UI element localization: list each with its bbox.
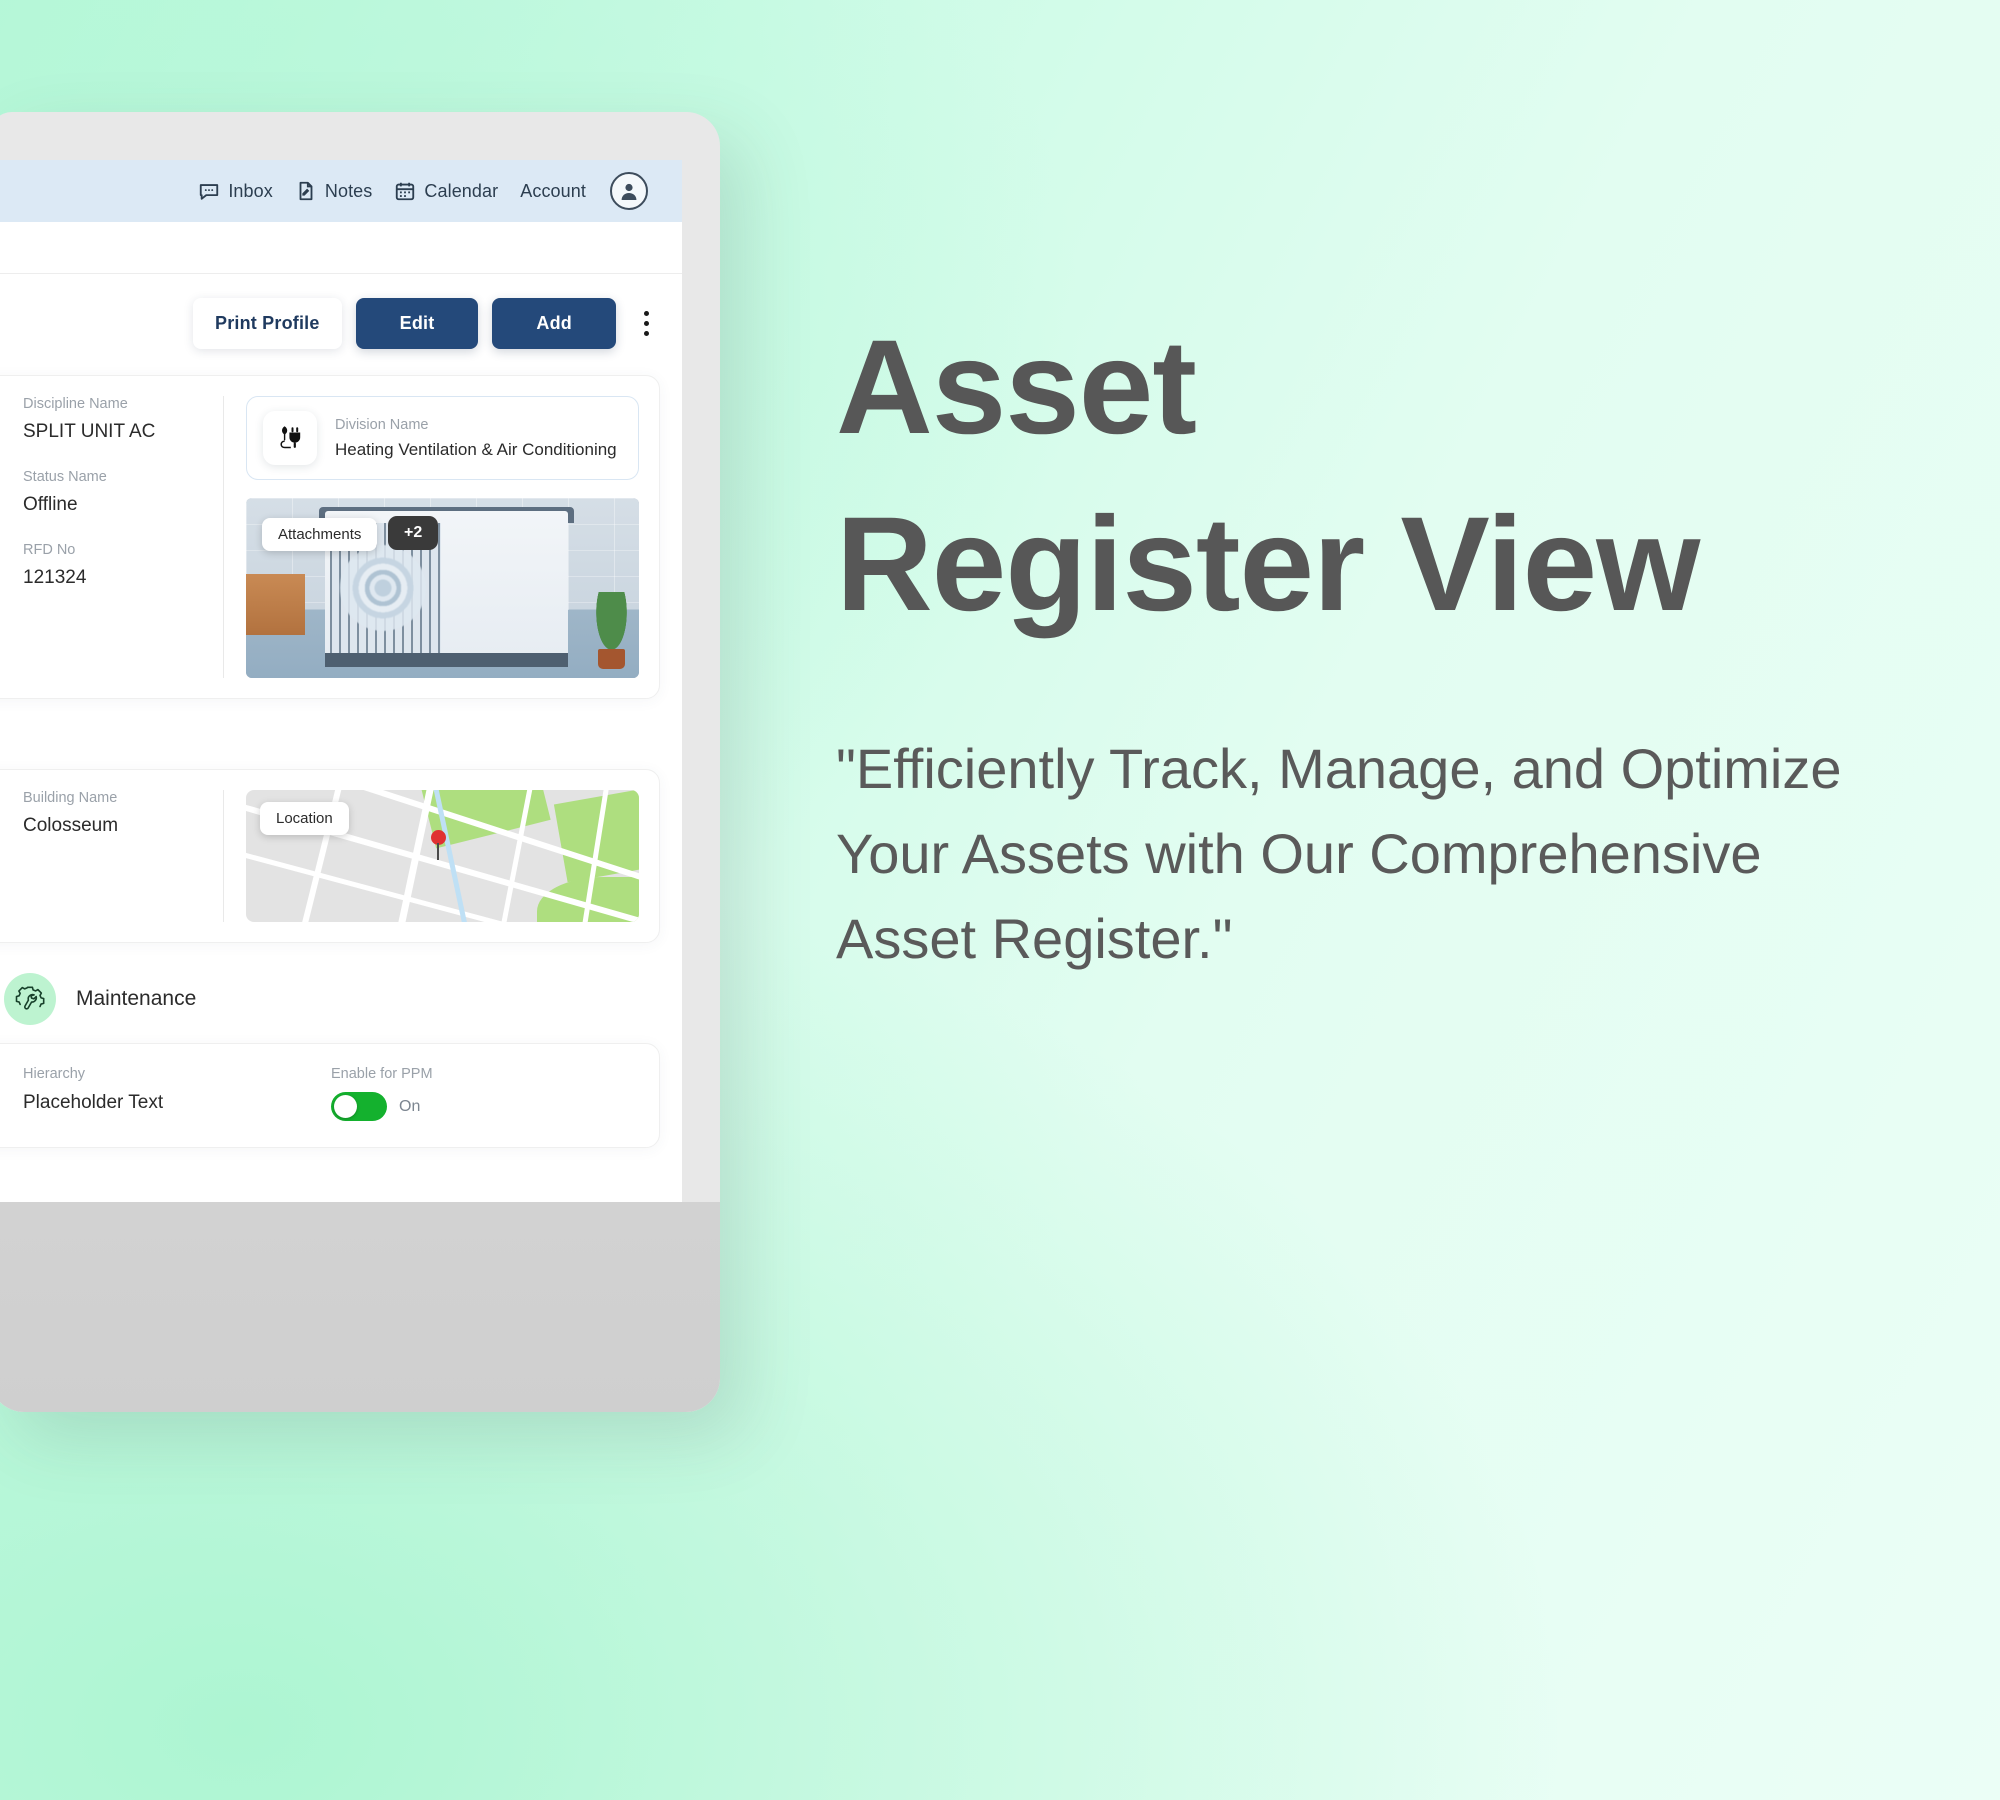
account-icon	[617, 179, 641, 203]
nav-item-calendar[interactable]: Calendar	[394, 180, 498, 202]
device-frame: Inbox Notes	[0, 112, 720, 1412]
headline-line-1: Asset	[836, 300, 1956, 477]
toolbar-area: Print Profile Edit Add	[0, 222, 682, 375]
hero-subcopy: "Efficiently Track, Manage, and Optimize…	[836, 726, 1866, 981]
photo-door	[246, 574, 305, 635]
headline-line-2: Register View	[836, 477, 1956, 654]
building-field-list: Building Name Colosseum	[23, 790, 223, 922]
app-screen: Inbox Notes	[0, 160, 682, 1202]
print-profile-button[interactable]: Print Profile	[193, 298, 342, 349]
more-options-icon[interactable]	[632, 304, 660, 344]
chat-bubble-icon	[198, 180, 220, 202]
field-label: Discipline Name	[23, 396, 207, 412]
ppm-label: Enable for PPM	[331, 1066, 639, 1082]
field-value: 121324	[23, 567, 207, 589]
nav-item-account[interactable]: Account	[520, 181, 586, 202]
edit-button[interactable]: Edit	[356, 298, 479, 349]
top-navigation-bar: Inbox Notes	[0, 160, 682, 222]
hero-copy: Asset Register View "Efficiently Track, …	[836, 300, 1956, 981]
building-card-right: Location	[223, 790, 639, 922]
asset-details-card: Discipline Name SPLIT UNIT AC Status Nam…	[0, 375, 660, 699]
toolbar-divider	[0, 222, 682, 274]
action-toolbar: Print Profile Edit Add	[0, 274, 682, 375]
calendar-icon	[394, 180, 416, 202]
building-details-card: Building Name Colosseum	[0, 769, 660, 943]
hierarchy-value: Placeholder Text	[23, 1092, 331, 1114]
field-label: Status Name	[23, 469, 207, 485]
attachments-chip[interactable]: Attachments	[262, 518, 377, 551]
status-badge: Offline	[23, 494, 207, 516]
field-status-name: Status Name Offline	[23, 469, 207, 516]
device-base	[0, 1202, 720, 1412]
division-value: Heating Ventilation & Air Conditioning	[335, 440, 617, 460]
toggle-knob	[334, 1095, 357, 1118]
nav-item-inbox-label: Inbox	[228, 181, 273, 202]
hierarchy-label: Hierarchy	[23, 1066, 331, 1082]
nav-item-inbox[interactable]: Inbox	[198, 180, 273, 202]
ppm-column: Enable for PPM On	[331, 1066, 639, 1121]
asset-field-list: Discipline Name SPLIT UNIT AC Status Nam…	[23, 396, 223, 678]
page-title: Asset Register View	[836, 300, 1956, 654]
note-pencil-icon	[295, 180, 317, 202]
ppm-toggle-row: On	[331, 1092, 639, 1121]
gear-wrench-icon	[4, 973, 56, 1025]
maintenance-card: Hierarchy Placeholder Text Enable for PP…	[0, 1043, 660, 1148]
photo-fan-blades	[340, 545, 426, 631]
photo-unit-base	[325, 653, 569, 667]
field-label: RFD No	[23, 542, 207, 558]
field-building-name: Building Name Colosseum	[23, 790, 207, 837]
field-rfd-no: RFD No 121324	[23, 542, 207, 589]
division-text: Division Name Heating Ventilation & Air …	[335, 417, 617, 460]
map-pin-icon	[431, 830, 446, 845]
division-label: Division Name	[335, 417, 617, 433]
field-value: SPLIT UNIT AC	[23, 421, 207, 443]
field-value: Colosseum	[23, 815, 207, 837]
attachments-count-badge[interactable]: +2	[388, 516, 438, 550]
maintenance-title: Maintenance	[76, 987, 196, 1011]
division-panel[interactable]: Division Name Heating Ventilation & Air …	[246, 396, 639, 480]
location-chip[interactable]: Location	[260, 802, 349, 835]
hierarchy-column: Hierarchy Placeholder Text	[23, 1066, 331, 1121]
maintenance-section-header: Maintenance	[4, 973, 682, 1025]
asset-card-right: Division Name Heating Ventilation & Air …	[223, 396, 639, 678]
location-map[interactable]: Location	[246, 790, 639, 922]
field-discipline-name: Discipline Name SPLIT UNIT AC	[23, 396, 207, 443]
nav-item-calendar-label: Calendar	[424, 181, 498, 202]
ppm-toggle[interactable]	[331, 1092, 387, 1121]
nav-item-notes[interactable]: Notes	[295, 180, 373, 202]
photo-pot	[598, 649, 626, 669]
ppm-state-label: On	[399, 1098, 420, 1116]
eco-plug-icon	[263, 411, 317, 465]
asset-photo[interactable]: Attachments +2	[246, 498, 639, 678]
user-avatar[interactable]	[610, 172, 648, 210]
add-button[interactable]: Add	[492, 298, 616, 349]
field-label: Building Name	[23, 790, 207, 806]
nav-item-notes-label: Notes	[325, 181, 373, 202]
nav-item-account-label: Account	[520, 181, 586, 202]
